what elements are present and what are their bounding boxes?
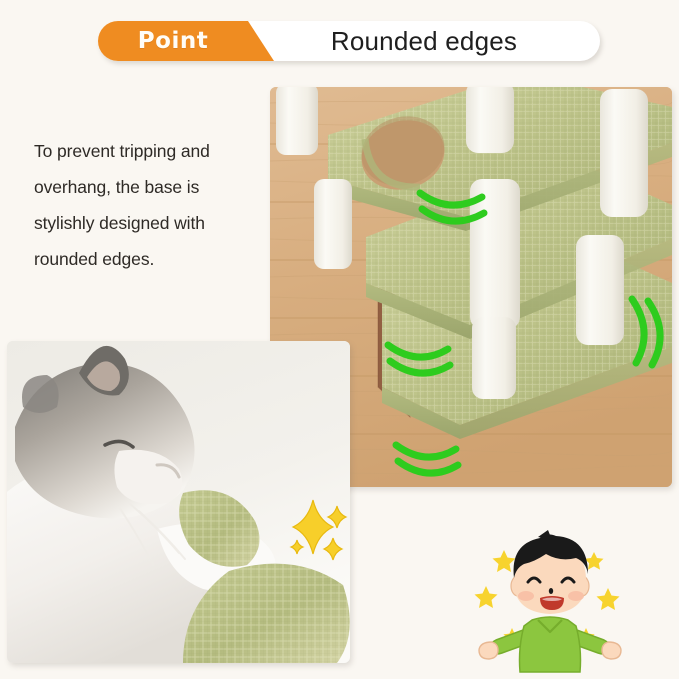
happy-boy-illustration-graphic [468,528,632,674]
header-banner: Point Rounded edges [98,21,600,61]
cat-photo-graphic [7,341,350,663]
star-icon [475,586,498,608]
boy-illustration [468,528,632,674]
point-badge-label: Point [138,28,208,54]
cat-photo [7,341,350,663]
boy-nose [549,588,553,594]
star-icon [597,588,620,610]
point-badge: Point [98,21,248,61]
description-text: To prevent tripping and overhang, the ba… [34,133,249,277]
star-icon [493,550,516,572]
page-root: Point Rounded edges To prevent tripping … [0,0,679,679]
page-title: Rounded edges [248,21,600,61]
boy-shirt [520,617,581,672]
